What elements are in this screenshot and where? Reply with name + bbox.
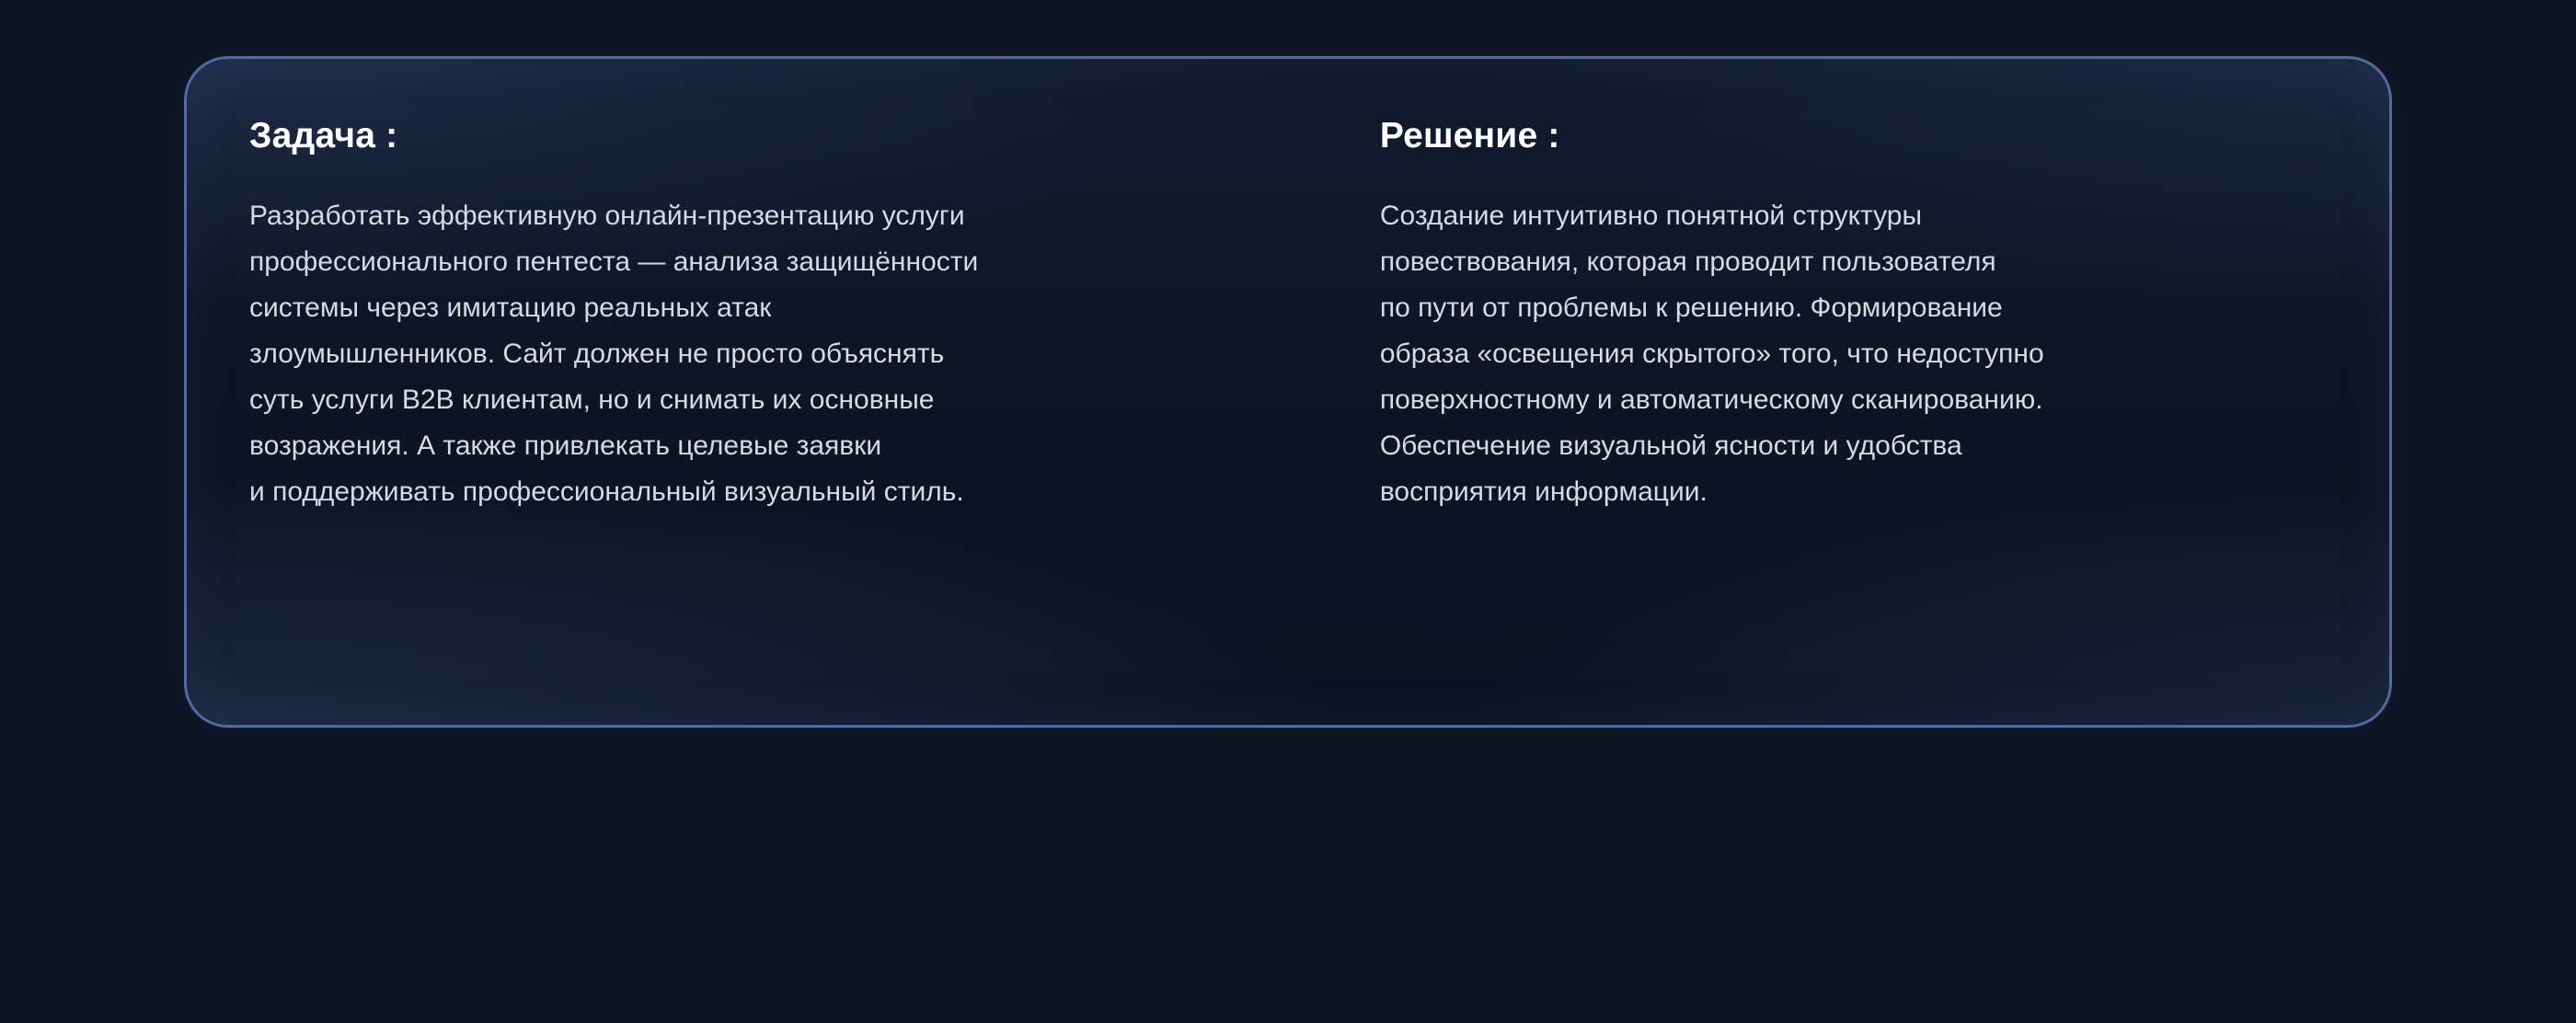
- card-content: Задача : Разработать эффективную онлайн-…: [187, 59, 2389, 725]
- task-heading: Задача :: [249, 115, 1380, 158]
- solution-heading: Решение :: [1380, 115, 2389, 158]
- task-solution-card: Задача : Разработать эффективную онлайн-…: [184, 56, 2392, 728]
- task-column: Задача : Разработать эффективную онлайн-…: [187, 59, 1380, 725]
- solution-column: Решение : Создание интуитивно понятной с…: [1380, 59, 2389, 725]
- task-body-text: Разработать эффективную онлайн-презентац…: [249, 193, 1280, 515]
- page-background: Задача : Разработать эффективную онлайн-…: [0, 0, 2576, 1023]
- solution-body-text: Создание интуитивно понятной структуры п…: [1380, 193, 2389, 515]
